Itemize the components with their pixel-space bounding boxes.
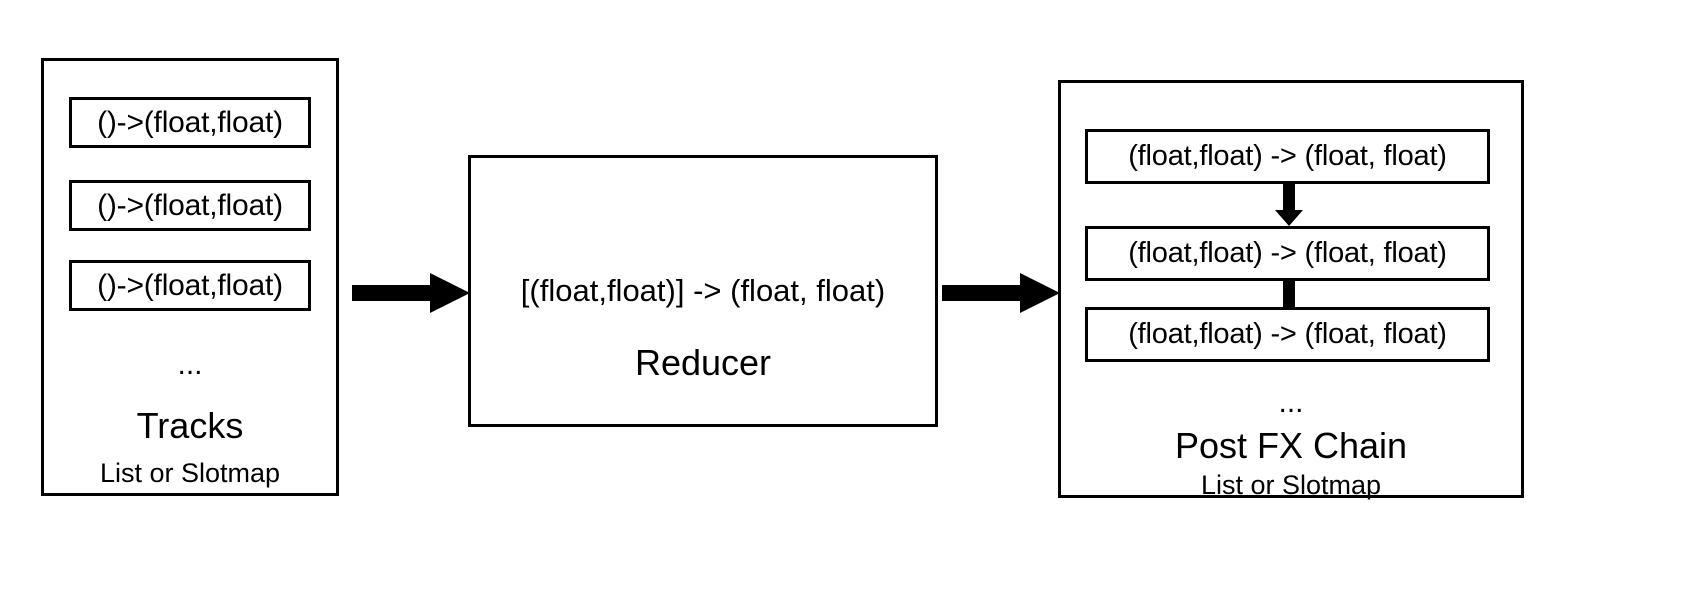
postfx-item-1[interactable]: (float,float) -> (float, float) xyxy=(1085,129,1490,184)
postfx-group-title: Post FX Chain xyxy=(1058,428,1524,464)
tracks-ellipsis: ... xyxy=(41,350,339,380)
postfx-group-subtitle: List or Slotmap xyxy=(1058,472,1524,499)
arrow-postfx-1-to-2 xyxy=(1272,184,1306,226)
tracks-group-title: Tracks xyxy=(41,408,339,444)
track-item-3[interactable]: ()->(float,float) xyxy=(69,260,311,311)
postfx-item-2[interactable]: (float,float) -> (float, float) xyxy=(1085,226,1490,281)
track-item-2-label: ()->(float,float) xyxy=(97,191,283,221)
track-item-2[interactable]: ()->(float,float) xyxy=(69,180,311,231)
postfx-item-3[interactable]: (float,float) -> (float, float) xyxy=(1085,307,1490,362)
postfx-item-3-label: (float,float) -> (float, float) xyxy=(1128,320,1447,349)
reducer-signature: [(float,float)] -> (float, float) xyxy=(468,275,938,306)
arrow-reducer-to-postfx xyxy=(942,270,1060,316)
arrow-tracks-to-reducer xyxy=(352,270,470,316)
track-item-1-label: ()->(float,float) xyxy=(97,108,283,138)
track-item-3-label: ()->(float,float) xyxy=(97,271,283,301)
reducer-title: Reducer xyxy=(468,345,938,381)
postfx-ellipsis: ... xyxy=(1058,388,1524,418)
track-item-1[interactable]: ()->(float,float) xyxy=(69,97,311,148)
tracks-group-subtitle: List or Slotmap xyxy=(41,460,339,487)
postfx-item-2-label: (float,float) -> (float, float) xyxy=(1128,239,1447,268)
postfx-item-1-label: (float,float) -> (float, float) xyxy=(1128,142,1447,171)
diagram-canvas: ()->(float,float) ()->(float,float) ()->… xyxy=(0,0,1694,600)
